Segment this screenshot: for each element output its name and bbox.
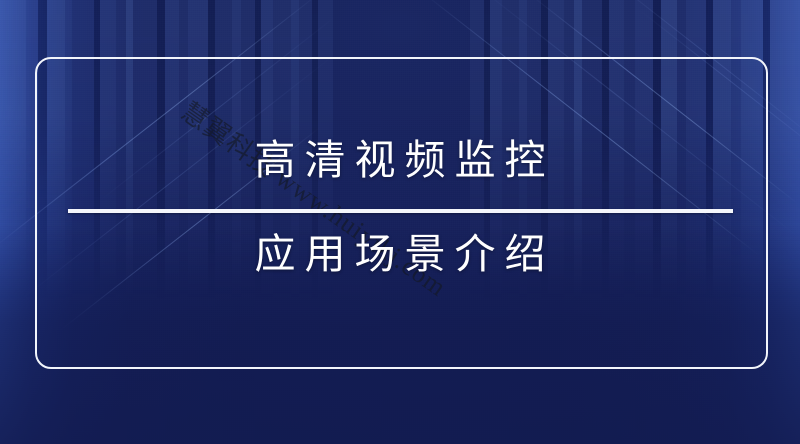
presentation-slide: 慧翼科技 www.huiyikj.com 高清视频监控 应用场景介绍 — [0, 0, 800, 444]
title-block: 高清视频监控 — [0, 140, 800, 181]
slide-title-secondary: 应用场景介绍 — [0, 234, 800, 275]
slide-frame-border — [35, 57, 768, 369]
slide-title-primary: 高清视频监控 — [0, 140, 800, 181]
subtitle-block: 应用场景介绍 — [0, 234, 800, 275]
title-divider — [68, 209, 733, 213]
